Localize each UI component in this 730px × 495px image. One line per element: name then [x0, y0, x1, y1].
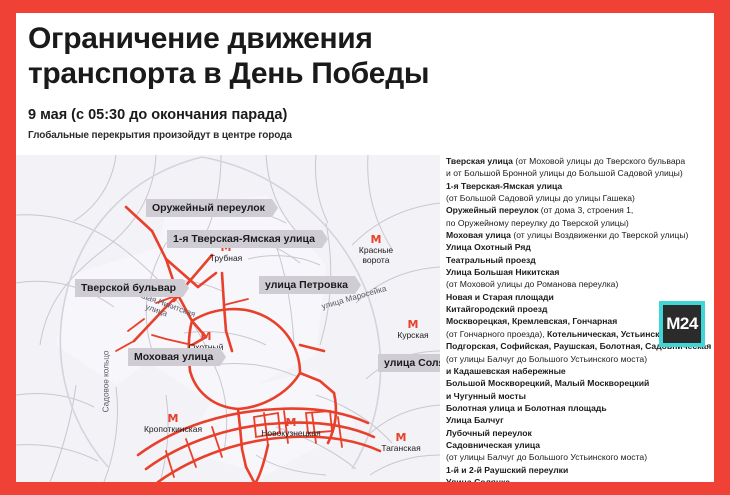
header: Ограничение движения транспорта в День П…: [28, 21, 628, 141]
closure-list-item: Моховая улица (от улицы Воздвиженки до Т…: [446, 229, 708, 241]
closure-street-name: Тверская улица: [446, 156, 515, 166]
closure-list-item: Театральный проезд: [446, 254, 708, 266]
closure-street-range: (от дома 3, строения 1,: [541, 205, 634, 215]
closure-street-range: (от Моховой улицы до Тверского бульвара: [515, 156, 685, 166]
closure-street-name: Большой Москворецкий, Малый Москворецкий: [446, 378, 649, 388]
closure-street-name: Театральный проезд: [446, 255, 536, 265]
closure-street-name: и Чугунный мосты: [446, 391, 526, 401]
date-subtitle: 9 мая (с 05:30 до окончания парада): [28, 107, 628, 123]
map-label-sadovoe-koltso: Садовое кольцо: [102, 342, 111, 422]
m24-logo[interactable]: M24: [659, 301, 705, 347]
closure-street-range: (от Моховой улицы до Романова переулка): [446, 279, 618, 289]
closure-street-range: (от улицы Воздвиженки до Тверской улицы): [513, 230, 688, 240]
closure-list-item: Улица Охотный Ряд: [446, 241, 708, 253]
closure-list-item: и Чугунный мосты: [446, 390, 708, 402]
m24-logo-text: M24: [666, 314, 698, 334]
page-title: Ограничение движения транспорта в День П…: [28, 21, 628, 91]
poster-canvas: Ограничение движения транспорта в День П…: [16, 13, 714, 482]
map-callout-oruzheyny-pereulok[interactable]: Оружейный переулок: [146, 199, 272, 217]
closure-street-range: (от Большой Садовой улицы до улицы Гашек…: [446, 193, 635, 203]
closure-street-name: Садовническая улица: [446, 440, 540, 450]
closure-list-item: Улица Балчуг: [446, 414, 708, 426]
map-panel[interactable]: Большая Никитская улица улица Маросейка …: [16, 155, 440, 482]
closure-street-name: Улица Балчуг: [446, 415, 504, 425]
closure-list-item: Тверская улица (от Моховой улицы до Твер…: [446, 155, 708, 167]
closure-list-item: и Кадашевская набережные: [446, 365, 708, 377]
closure-street-range: (от улицы Балчуг до Большого Устьинского…: [446, 354, 647, 364]
closure-street-name: Москворецкая, Кремлевская, Гончарная: [446, 316, 617, 326]
closure-list-item: и от Большой Бронной улицы до Большой Са…: [446, 167, 708, 179]
map-callout-mokhovaya-ulitsa[interactable]: Моховая улица: [128, 348, 220, 366]
closure-list-item: Болотная улица и Болотная площадь: [446, 402, 708, 414]
closure-street-name: Улица Большая Никитская: [446, 267, 559, 277]
closure-list-item: Улица Солянка: [446, 476, 708, 482]
closure-list-item: Садовническая улица: [446, 439, 708, 451]
closure-street-name: и Кадашевская набережные: [446, 366, 566, 376]
closure-list-item: (от Моховой улицы до Романова переулка): [446, 278, 708, 290]
closure-list-item: (от Большой Садовой улицы до улицы Гашек…: [446, 192, 708, 204]
closure-street-range: (от Гончарного проезда),: [446, 329, 547, 339]
map-callout-ulitsa-petrovka[interactable]: улица Петровка: [259, 276, 355, 294]
closure-street-name: Моховая улица: [446, 230, 513, 240]
closure-street-name: Новая и Старая площади: [446, 292, 554, 302]
closure-street-name: Улица Охотный Ряд: [446, 242, 531, 252]
map-callout-ulitsa-solyanka[interactable]: улица Солянка: [378, 354, 440, 372]
closure-list-item: Большой Москворецкий, Малый Москворецкий: [446, 377, 708, 389]
closure-list-item: (от улицы Балчуг до Большого Устьинского…: [446, 451, 708, 463]
closure-street-range: и от Большой Бронной улицы до Большой Са…: [446, 168, 683, 178]
closure-list-item: 1-й и 2-й Раушский переулки: [446, 464, 708, 476]
note-text: Глобальные перекрытия произойдут в центр…: [28, 130, 628, 141]
poster-frame: Ограничение движения транспорта в День П…: [0, 0, 730, 495]
closure-list-item: (от улицы Балчуг до Большого Устьинского…: [446, 353, 708, 365]
closure-list-item: Оружейный переулок (от дома 3, строения …: [446, 204, 708, 216]
closure-street-range: (от улицы Балчуг до Большого Устьинского…: [446, 452, 647, 462]
closure-street-name: Болотная улица и Болотная площадь: [446, 403, 607, 413]
map-callout-tverskoy-bulvar[interactable]: Тверской бульвар: [75, 279, 183, 297]
closure-list-item: 1-я Тверская-Ямская улица: [446, 180, 708, 192]
closure-street-name: Оружейный переулок: [446, 205, 541, 215]
closure-street-name: Китайгородский проезд: [446, 304, 547, 314]
closure-street-name: Лубочный переулок: [446, 428, 532, 438]
map-callout-1ya-tverskaya-yamskaya[interactable]: 1-я Тверская-Ямская улица: [167, 230, 322, 248]
closure-list-item: Лубочный переулок: [446, 427, 708, 439]
closure-street-name: 1-й и 2-й Раушский переулки: [446, 465, 568, 475]
closure-list-item: Улица Большая Никитская: [446, 266, 708, 278]
closure-street-range: по Оружейному переулку до Тверской улицы…: [446, 218, 629, 228]
closure-street-name: Улица Солянка: [446, 477, 510, 482]
closure-street-name: 1-я Тверская-Ямская улица: [446, 181, 562, 191]
closure-list-item: по Оружейному переулку до Тверской улицы…: [446, 217, 708, 229]
closure-street-name: Котельническая, Устьинская,: [547, 329, 672, 339]
